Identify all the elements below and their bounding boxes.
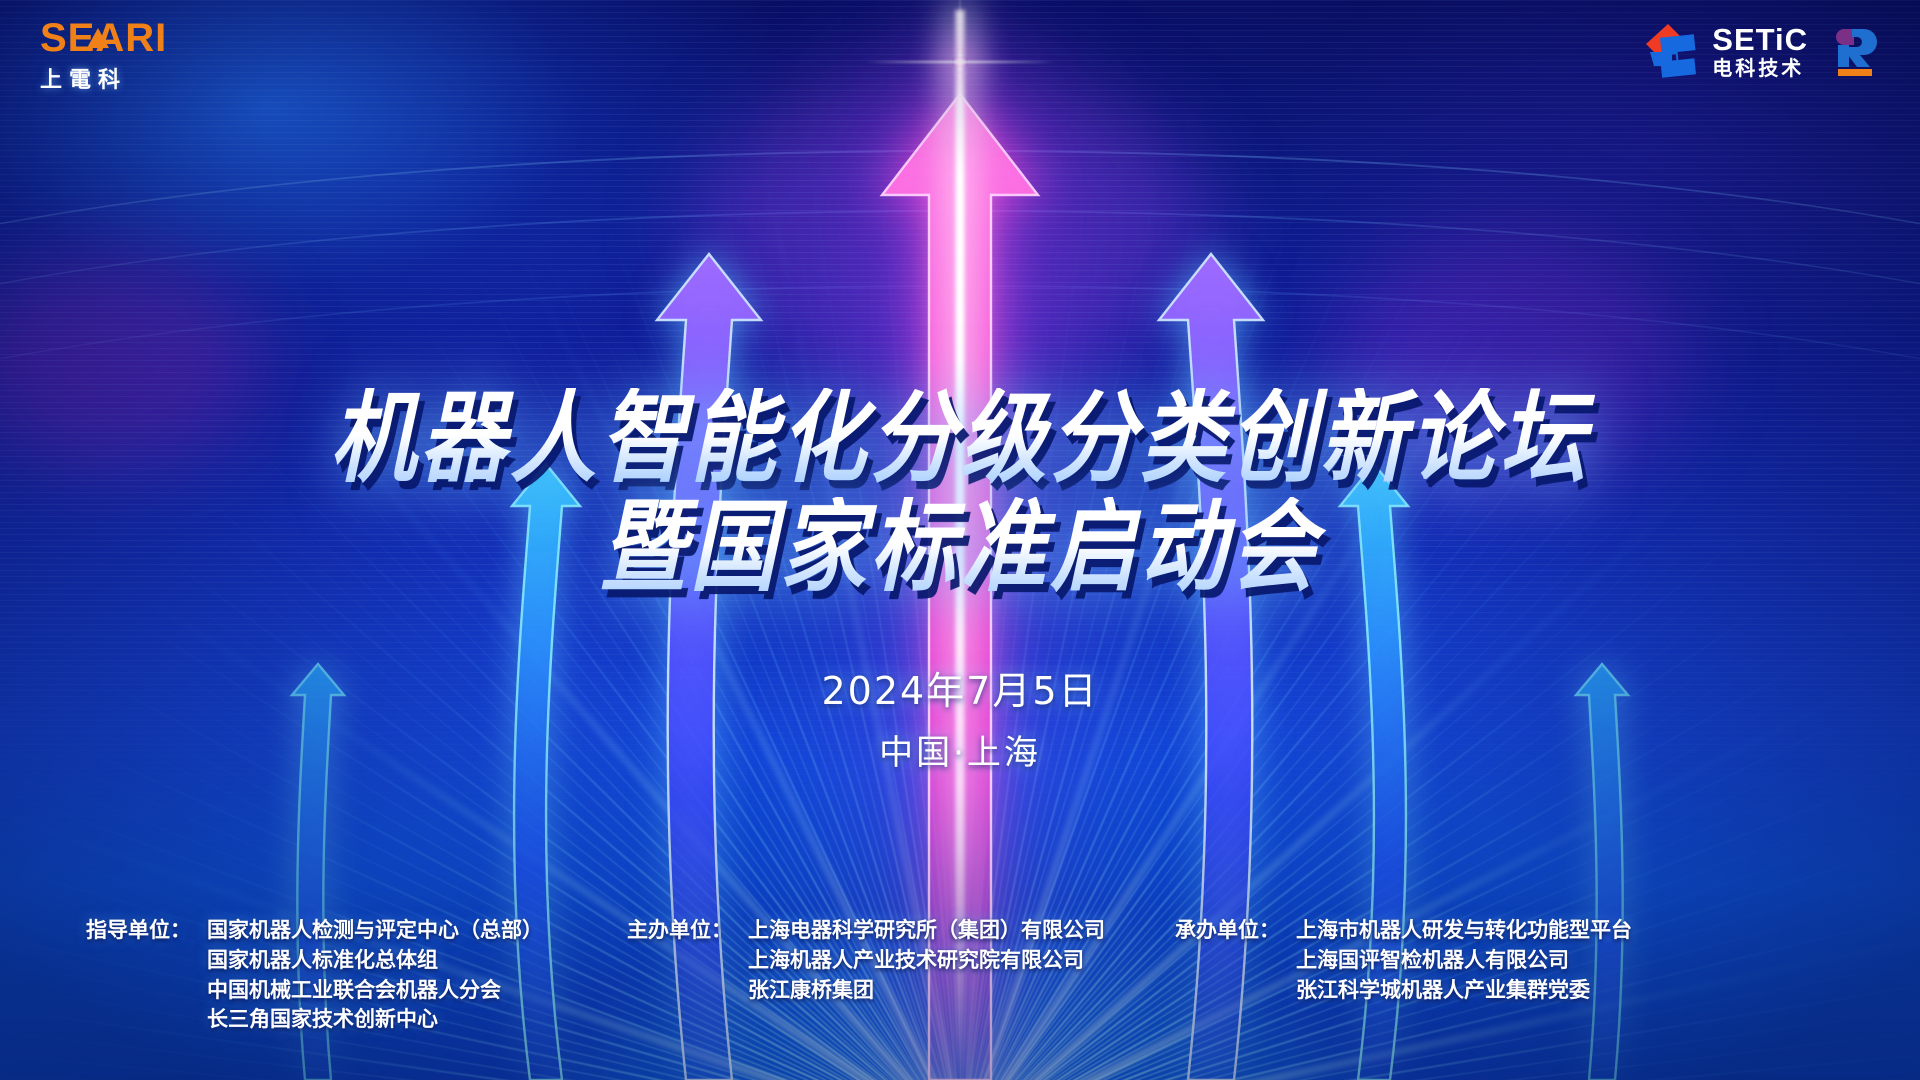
- magenta-glow-top: [690, 60, 1210, 400]
- org-item: 中国机械工业联合会机器人分会: [207, 976, 543, 1006]
- org-item: 上海国评智检机器人有限公司: [1296, 946, 1632, 976]
- event-date: 2024年7月5日: [0, 660, 1920, 715]
- light-ray: [0, 1034, 961, 1080]
- title-block: 机器人智能化分级分类创新论坛 暨国家标准启动会: [0, 388, 1920, 587]
- event-meta: 2024年7月5日 中国·上海: [0, 660, 1920, 774]
- seari-wordmark: SEARI: [40, 18, 167, 58]
- setic-logo[interactable]: SETiC 电科技术: [1642, 22, 1808, 80]
- org-list: 上海市机器人研发与转化功能型平台 上海国评智检机器人有限公司 张江科学城机器人产…: [1296, 916, 1632, 1005]
- org-list: 上海电器科学研究所（集团）有限公司 上海机器人产业技术研究院有限公司 张江康桥集…: [748, 916, 1105, 1005]
- setic-cn-text: 电科技术: [1712, 58, 1808, 78]
- org-item: 国家机器人检测与评定中心（总部）: [207, 916, 543, 946]
- seari-chinese-name: 上電科: [40, 62, 167, 94]
- light-ray: [960, 1062, 1920, 1080]
- org-item: 长三角国家技术创新中心: [207, 1005, 543, 1035]
- partner-logos: SETiC 电科技术: [1642, 22, 1882, 80]
- org-label: 承办单位：: [1175, 916, 1280, 946]
- org-item: 上海机器人产业技术研究院有限公司: [748, 946, 1105, 976]
- org-item: 张江康桥集团: [748, 976, 1105, 1006]
- conference-banner: SEARI 上電科 SETiC 电科技术: [0, 0, 1920, 1080]
- apex-spark-icon: [952, 54, 968, 70]
- event-location: 中国·上海: [0, 725, 1920, 774]
- org-column-guidance: 指导单位： 国家机器人检测与评定中心（总部） 国家机器人标准化总体组 中国机械工…: [86, 916, 543, 1035]
- seari-peak-icon: [87, 28, 109, 48]
- title-line-1: 机器人智能化分级分类创新论坛: [0, 388, 1920, 492]
- org-label: 指导单位：: [86, 916, 191, 946]
- org-list: 国家机器人检测与评定中心（总部） 国家机器人标准化总体组 中国机械工业联合会机器…: [207, 916, 543, 1035]
- setic-mark-icon: [1642, 22, 1700, 80]
- org-item: 上海市机器人研发与转化功能型平台: [1296, 916, 1632, 946]
- org-column-organizer: 承办单位： 上海市机器人研发与转化功能型平台 上海国评智检机器人有限公司 张江科…: [1175, 916, 1632, 1005]
- org-column-host: 主办单位： 上海电器科学研究所（集团）有限公司 上海机器人产业技术研究院有限公司…: [627, 916, 1105, 1005]
- org-item: 国家机器人标准化总体组: [207, 946, 543, 976]
- org-item: 上海电器科学研究所（集团）有限公司: [748, 916, 1105, 946]
- setic-wordmark: SETiC 电科技术: [1712, 24, 1808, 78]
- title-line-2: 暨国家标准启动会: [0, 497, 1920, 601]
- seari-logo[interactable]: SEARI 上電科: [40, 18, 167, 94]
- org-label: 主办单位：: [627, 916, 732, 946]
- light-ray: [961, 1034, 1920, 1080]
- light-ray: [0, 1059, 964, 1080]
- organizations-block: 指导单位： 国家机器人检测与评定中心（总部） 国家机器人标准化总体组 中国机械工…: [0, 916, 1920, 1035]
- org-item: 张江科学城机器人产业集群党委: [1296, 976, 1632, 1006]
- setic-en-text: SETiC: [1712, 24, 1808, 55]
- ir-logo[interactable]: [1830, 23, 1882, 79]
